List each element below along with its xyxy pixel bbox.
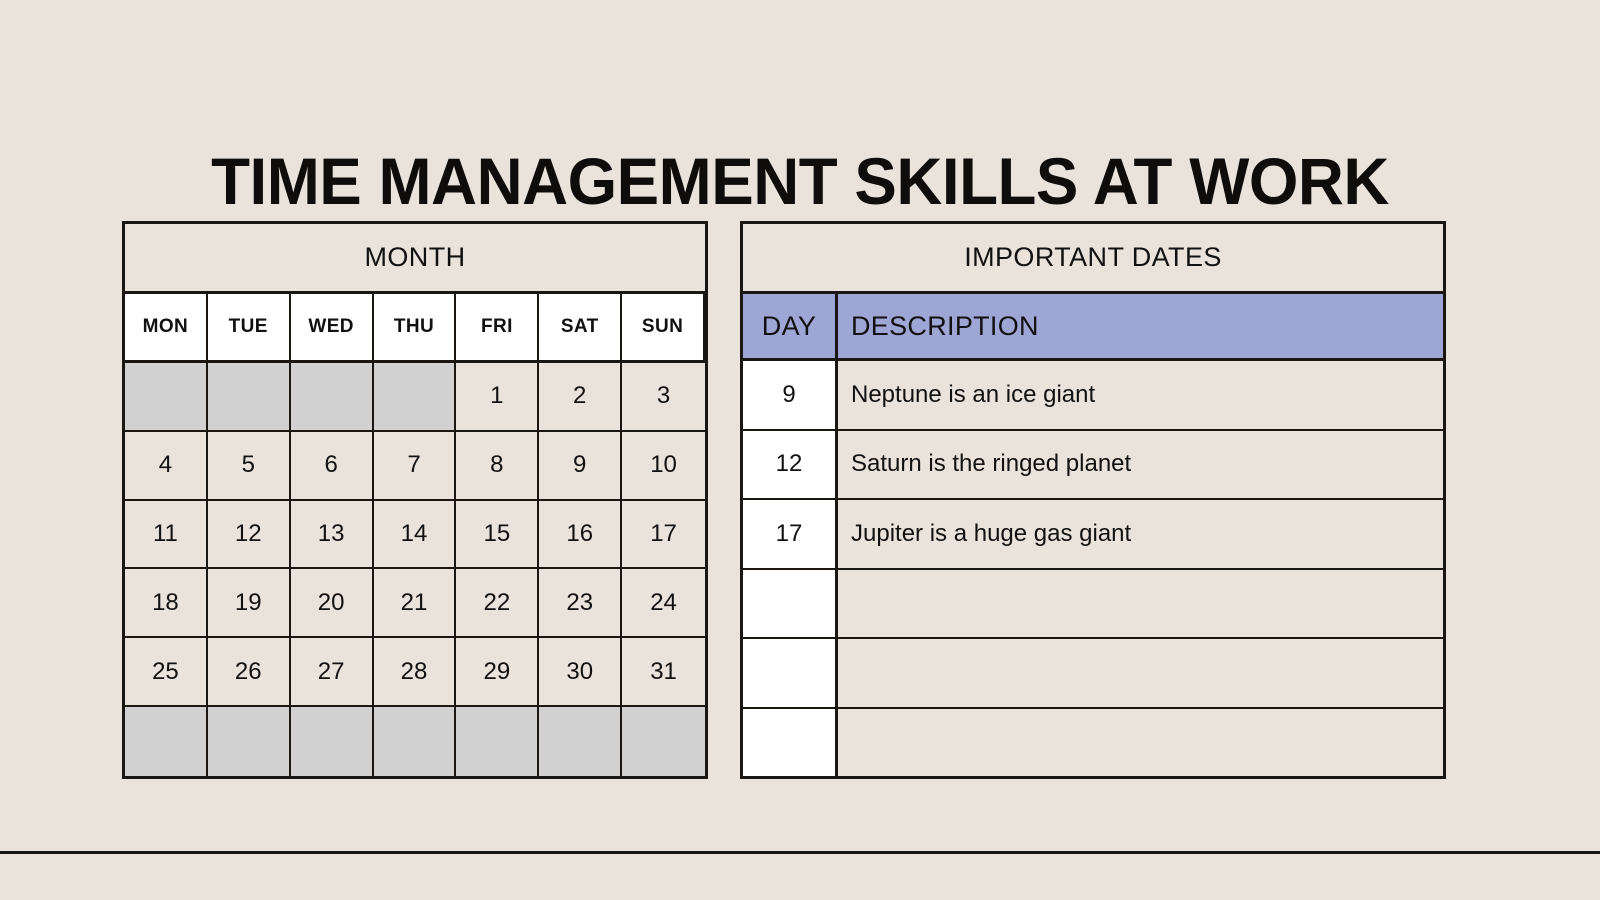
calendar-day-cell[interactable] bbox=[622, 707, 705, 776]
calendar-day-cell[interactable]: 8 bbox=[456, 432, 539, 501]
calendar-day-cell[interactable]: 14 bbox=[374, 501, 457, 570]
calendar-day-cell[interactable]: 1 bbox=[456, 363, 539, 432]
page-title: TIME MANAGEMENT SKILLS AT WORK bbox=[28, 148, 1572, 214]
calendar-day-cell[interactable]: 31 bbox=[622, 638, 705, 707]
calendar-dayname-sat: SAT bbox=[539, 294, 622, 363]
table-header-row: DAY DESCRIPTION bbox=[743, 294, 1443, 361]
cell-description[interactable]: Saturn is the ringed planet bbox=[838, 431, 1443, 499]
calendar-day-cell[interactable]: 23 bbox=[539, 569, 622, 638]
calendar-day-cell[interactable]: 4 bbox=[125, 432, 208, 501]
calendar-day-cell[interactable]: 18 bbox=[125, 569, 208, 638]
table-row[interactable] bbox=[743, 570, 1443, 640]
calendar-day-cell[interactable]: 24 bbox=[622, 569, 705, 638]
important-dates-caption: IMPORTANT DATES bbox=[743, 224, 1443, 294]
cell-day[interactable] bbox=[743, 570, 838, 638]
calendar-day-cell[interactable]: 22 bbox=[456, 569, 539, 638]
calendar-dayname-mon: MON bbox=[125, 294, 208, 363]
calendar-day-cell[interactable]: 12 bbox=[208, 501, 291, 570]
calendar-day-cell[interactable]: 13 bbox=[291, 501, 374, 570]
calendar-grid: MON TUE WED THU FRI SAT SUN 1 2 3 4 5 6 … bbox=[125, 294, 705, 776]
calendar-day-cell[interactable] bbox=[208, 707, 291, 776]
calendar-day-cell[interactable] bbox=[456, 707, 539, 776]
cell-day[interactable]: 9 bbox=[743, 361, 838, 429]
calendar-day-cell[interactable] bbox=[291, 363, 374, 432]
calendar-day-cell[interactable]: 27 bbox=[291, 638, 374, 707]
calendar-day-cell[interactable] bbox=[374, 707, 457, 776]
calendar-day-cell[interactable] bbox=[125, 363, 208, 432]
calendar-day-cell[interactable]: 6 bbox=[291, 432, 374, 501]
calendar-day-cell[interactable] bbox=[539, 707, 622, 776]
table-row[interactable]: 17 Jupiter is a huge gas giant bbox=[743, 500, 1443, 570]
column-header-description: DESCRIPTION bbox=[838, 294, 1443, 358]
calendar-day-cell[interactable]: 11 bbox=[125, 501, 208, 570]
calendar-day-cell[interactable]: 5 bbox=[208, 432, 291, 501]
cell-day[interactable]: 17 bbox=[743, 500, 838, 568]
calendar-day-cell[interactable]: 21 bbox=[374, 569, 457, 638]
cell-description[interactable] bbox=[838, 709, 1443, 777]
cell-day[interactable] bbox=[743, 639, 838, 707]
calendar-dayname-sun: SUN bbox=[622, 294, 705, 363]
calendar-day-cell[interactable]: 7 bbox=[374, 432, 457, 501]
calendar-day-cell[interactable]: 17 bbox=[622, 501, 705, 570]
cell-description[interactable] bbox=[838, 639, 1443, 707]
important-dates-table: DAY DESCRIPTION 9 Neptune is an ice gian… bbox=[743, 294, 1443, 776]
table-row[interactable]: 9 Neptune is an ice giant bbox=[743, 361, 1443, 431]
calendar-day-cell[interactable] bbox=[374, 363, 457, 432]
calendar-day-cell[interactable]: 9 bbox=[539, 432, 622, 501]
calendar-day-cell[interactable]: 25 bbox=[125, 638, 208, 707]
cell-description[interactable] bbox=[838, 570, 1443, 638]
calendar-day-cell[interactable]: 16 bbox=[539, 501, 622, 570]
calendar-panel: MONTH MON TUE WED THU FRI SAT SUN 1 2 3 … bbox=[122, 221, 708, 779]
calendar-day-cell[interactable]: 19 bbox=[208, 569, 291, 638]
calendar-day-cell[interactable] bbox=[208, 363, 291, 432]
calendar-day-cell[interactable]: 10 bbox=[622, 432, 705, 501]
calendar-day-cell[interactable]: 30 bbox=[539, 638, 622, 707]
calendar-caption: MONTH bbox=[125, 224, 705, 294]
cell-day[interactable] bbox=[743, 709, 838, 777]
footer-divider bbox=[0, 851, 1600, 854]
calendar-day-cell[interactable]: 28 bbox=[374, 638, 457, 707]
cell-description[interactable]: Neptune is an ice giant bbox=[838, 361, 1443, 429]
cell-day[interactable]: 12 bbox=[743, 431, 838, 499]
calendar-day-cell[interactable]: 2 bbox=[539, 363, 622, 432]
column-header-day: DAY bbox=[743, 294, 838, 358]
calendar-day-cell[interactable]: 15 bbox=[456, 501, 539, 570]
table-row[interactable] bbox=[743, 709, 1443, 777]
cell-description[interactable]: Jupiter is a huge gas giant bbox=[838, 500, 1443, 568]
calendar-day-cell[interactable]: 3 bbox=[622, 363, 705, 432]
calendar-day-cell[interactable]: 26 bbox=[208, 638, 291, 707]
calendar-dayname-wed: WED bbox=[291, 294, 374, 363]
table-row[interactable] bbox=[743, 639, 1443, 709]
calendar-dayname-tue: TUE bbox=[208, 294, 291, 363]
calendar-day-cell[interactable]: 20 bbox=[291, 569, 374, 638]
calendar-dayname-fri: FRI bbox=[456, 294, 539, 363]
calendar-day-cell[interactable] bbox=[291, 707, 374, 776]
calendar-day-cell[interactable]: 29 bbox=[456, 638, 539, 707]
table-row[interactable]: 12 Saturn is the ringed planet bbox=[743, 431, 1443, 501]
calendar-dayname-thu: THU bbox=[374, 294, 457, 363]
calendar-day-cell[interactable] bbox=[125, 707, 208, 776]
important-dates-panel: IMPORTANT DATES DAY DESCRIPTION 9 Neptun… bbox=[740, 221, 1446, 779]
